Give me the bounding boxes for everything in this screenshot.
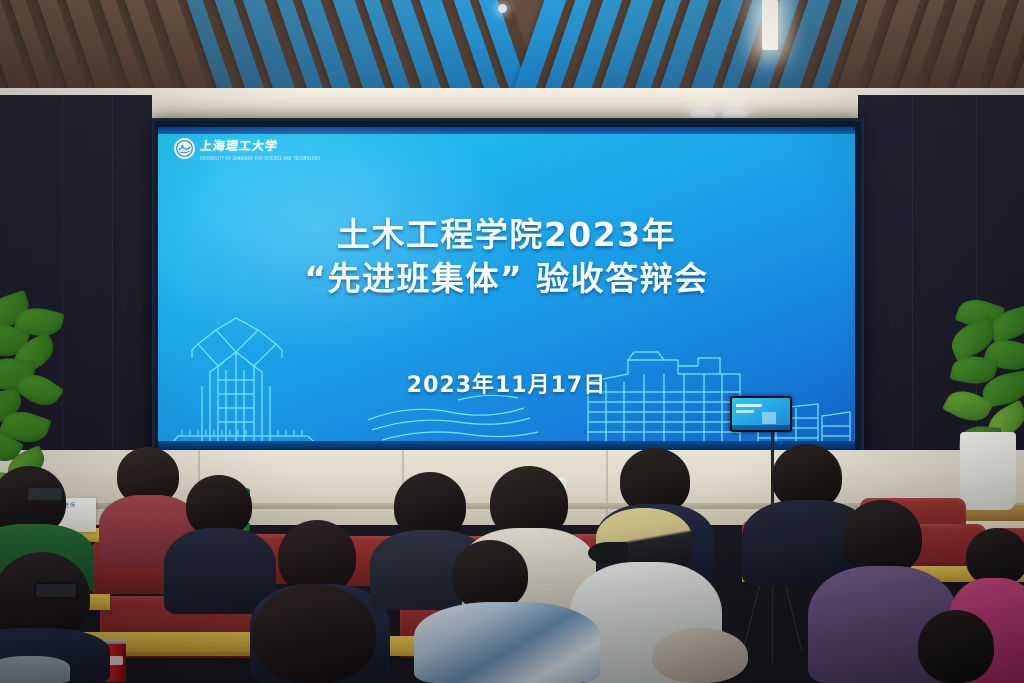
tripod-leg bbox=[741, 585, 761, 654]
ceiling-light-dot bbox=[498, 4, 507, 13]
cap-brim bbox=[588, 542, 628, 564]
eyeglasses bbox=[26, 486, 64, 502]
screen-title-line1: 土木工程学院2023年 bbox=[158, 213, 855, 257]
tripod-leg bbox=[784, 585, 804, 654]
screen-date: 2023年11月17日 bbox=[158, 367, 855, 399]
conference-hall-photo: 上海理工大学 UNIVERSITY OF SHANGHAI FOR SCIENC… bbox=[0, 0, 1024, 683]
phone-on-tripod[interactable] bbox=[730, 396, 792, 432]
screen-bottom-band bbox=[158, 441, 855, 450]
university-emblem-icon bbox=[174, 138, 195, 159]
university-logo: 上海理工大学 UNIVERSITY OF SHANGHAI FOR SCIENC… bbox=[174, 137, 321, 159]
university-wordmark: 上海理工大学 UNIVERSITY OF SHANGHAI FOR SCIENC… bbox=[200, 137, 321, 159]
wordmark-zh: 上海理工大学 bbox=[199, 137, 322, 154]
screen-title-line2: “先进班集体” 验收答辩会 bbox=[158, 257, 855, 301]
phone-screen bbox=[732, 398, 790, 430]
ceiling bbox=[0, 0, 1024, 95]
planter-pot-right bbox=[960, 432, 1016, 510]
lower-wall-seam bbox=[606, 450, 608, 525]
ceiling-skylight bbox=[762, 0, 778, 50]
eyeglasses bbox=[34, 582, 78, 599]
wordmark-en: UNIVERSITY OF SHANGHAI FOR SCIENCE AND T… bbox=[200, 155, 321, 161]
screen-title: 土木工程学院2023年 “先进班集体” 验收答辩会 bbox=[158, 213, 855, 301]
